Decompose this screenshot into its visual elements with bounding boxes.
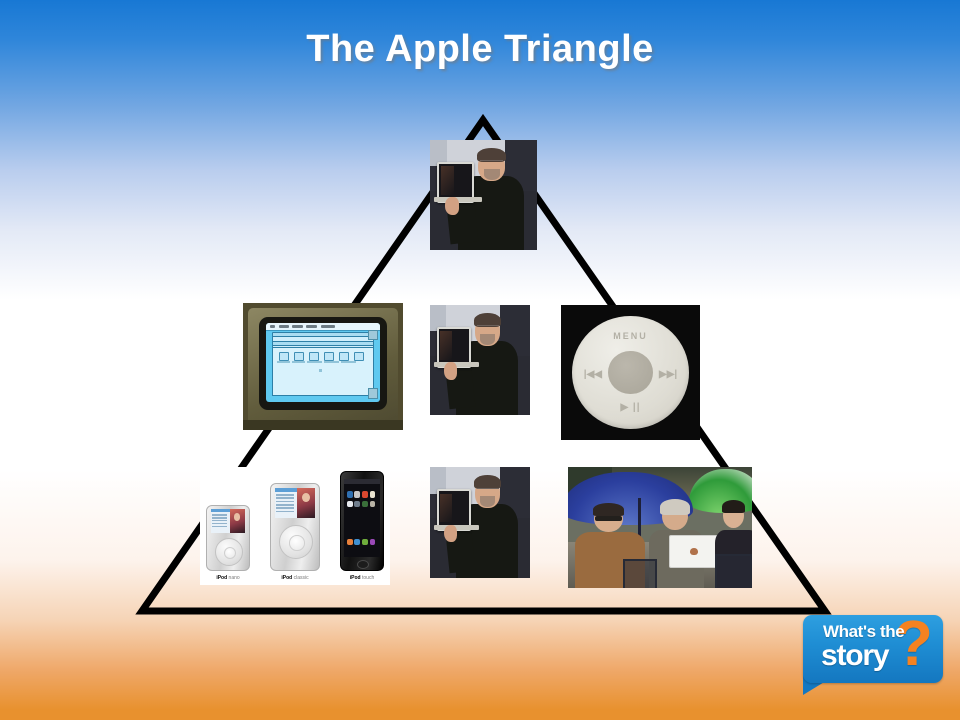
home-app-icon[interactable] (347, 501, 353, 507)
person-center-hair (660, 499, 690, 515)
dock-app-icon[interactable] (362, 539, 368, 545)
ipod-classic-menu-pane (275, 488, 297, 518)
ipod-play-pause-icon: ▶ || (572, 402, 689, 413)
slide-canvas: The Apple Triangle (0, 0, 960, 720)
apple-logo-icon (690, 548, 698, 555)
click-wheel: MENU |◀◀ ▶▶| ▶ || (572, 316, 689, 429)
ipod-classic-device: iPod classic (270, 483, 320, 571)
ipod-classic-click-wheel (279, 525, 313, 559)
home-app-icon[interactable] (354, 491, 360, 497)
ipod-nano-screen (211, 509, 245, 533)
person-hand (445, 197, 459, 215)
home-app-icon[interactable] (362, 491, 368, 497)
node-bottom-right-queue-photo (568, 467, 752, 588)
question-mark-icon: ? (894, 611, 933, 675)
macbook-device (669, 535, 719, 568)
ipod-select-button (608, 351, 652, 394)
mac-menu-special (321, 325, 336, 328)
ipod-nano-label: iPod nano (206, 575, 250, 581)
ipod-touch-model: touch (361, 575, 375, 581)
ipod-classic-screen (275, 488, 315, 518)
person-hand (444, 362, 457, 380)
mac-menu-file (279, 325, 289, 328)
whats-the-story-logo[interactable]: ? What's the story (795, 615, 943, 697)
macintosh-screen (266, 323, 380, 402)
home-app-icon[interactable] (370, 501, 376, 507)
mac-file-label (307, 361, 322, 363)
mac-file-label (292, 361, 305, 363)
home-app-icon[interactable] (347, 491, 353, 497)
mac-window-main (272, 347, 374, 396)
ipod-classic-model: classic (292, 575, 308, 581)
ipod-touch-statusbar (344, 479, 380, 484)
mac-cursor (319, 369, 322, 372)
person-beard (480, 334, 495, 345)
ipod-previous-icon: |◀◀ (584, 369, 602, 380)
mac-window-titlebar (273, 342, 373, 346)
mac-os-menubar (266, 323, 380, 331)
mac-file-label (341, 361, 356, 363)
ipod-nano-brand: iPod (216, 575, 227, 581)
ipod-nano-menu-header (211, 509, 230, 512)
ipod-nano-device: iPod nano (206, 505, 250, 571)
glasses-icon (480, 160, 504, 165)
mac-disk-icon (368, 330, 378, 341)
ipod-touch-screen (344, 479, 380, 557)
home-app-icon[interactable] (354, 501, 360, 507)
node-right-ipod-wheel-photo: MENU |◀◀ ▶▶| ▶ || (561, 305, 700, 440)
ipod-touch-label: iPod touch (340, 575, 384, 581)
mac-file-label (277, 361, 290, 363)
ipod-next-icon: ▶▶| (659, 369, 677, 380)
glasses-icon (477, 488, 499, 493)
ipod-nano-select-button (224, 547, 237, 560)
ipod-classic-album-art (297, 488, 315, 518)
ipod-classic-label: iPod classic (270, 575, 320, 581)
device-glint (440, 494, 452, 523)
ipod-nano-menu-pane (211, 509, 230, 533)
glasses-icon (477, 325, 499, 330)
home-app-icon[interactable] (370, 491, 376, 497)
album-art-face (234, 513, 240, 520)
ipod-nano-click-wheel (215, 538, 243, 566)
photo-foreground (243, 420, 403, 430)
node-bottom-center-jobs-photo (430, 467, 530, 578)
home-app-icon[interactable] (362, 501, 368, 507)
node-left-macintosh-photo (243, 303, 403, 430)
node-center-jobs-photo (430, 305, 530, 415)
mac-file-label (324, 361, 339, 363)
mac-menu-apple (270, 325, 276, 328)
mac-window-titlebar (273, 333, 373, 337)
ipod-classic-brand: iPod (281, 575, 292, 581)
dock-app-icon[interactable] (354, 539, 360, 545)
ipod-nano-album-art (230, 509, 245, 533)
person-right-hair (722, 500, 745, 513)
person-left-hair (593, 503, 624, 516)
person-hand (444, 525, 457, 543)
album-art-face (302, 493, 310, 502)
device-glint (440, 331, 452, 360)
device-glint (441, 166, 454, 195)
ipod-nano-model: nano (227, 575, 240, 581)
ipod-touch-brand: iPod (350, 575, 361, 581)
mac-menu-edit (292, 325, 302, 328)
logo-line-2: story (821, 639, 888, 673)
node-apex-jobs-photo (430, 140, 537, 250)
ipod-classic-menu-header (275, 488, 297, 492)
ipod-touch-home-button[interactable] (357, 560, 369, 569)
folding-chair-left (623, 559, 656, 588)
dock-app-icon[interactable] (347, 539, 353, 545)
person-beard (484, 169, 500, 180)
folding-chair-right (715, 554, 752, 588)
speech-bubble: ? What's the story (803, 615, 943, 683)
node-bottom-left-ipods-photo: iPod nano (200, 467, 390, 585)
mac-trash-icon (368, 388, 378, 399)
person-beard (480, 496, 495, 507)
person-left-glasses (595, 516, 621, 522)
ipod-classic-select-button (289, 535, 304, 550)
mac-menu-view (306, 325, 317, 328)
ipod-touch-device: iPod touch (340, 471, 384, 571)
ipod-menu-label: MENU (572, 331, 689, 341)
dock-app-icon[interactable] (370, 539, 376, 545)
